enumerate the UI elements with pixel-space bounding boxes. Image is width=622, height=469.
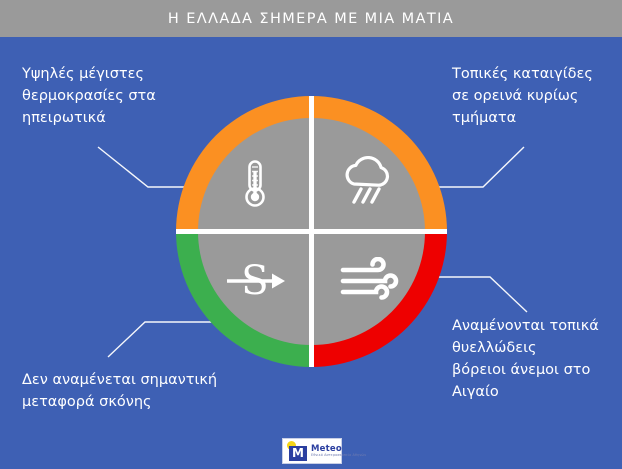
sand-transport-icon: S: [224, 256, 286, 306]
callout-top-right: Τοπικές καταιγίδες σε ορεινά κυρίως τμήμ…: [452, 63, 622, 129]
rain-cloud-icon: [339, 155, 399, 211]
header-bar: Η ΕΛΛΑΔΑ ΣΗΜΕΡΑ ΜΕ ΜΙΑ ΜΑΤΙΑ: [0, 0, 622, 37]
meteo-logo[interactable]: M Meteo Εθνικό Αστεροσκοπείο Αθηνών: [282, 438, 342, 464]
callout-bottom-left: Δεν αναμένεται σημαντική μεταφορά σκόνης: [22, 369, 242, 413]
dial-quadrant-dust[interactable]: S: [220, 246, 290, 316]
thermometer-icon: [227, 155, 283, 211]
page-title: Η ΕΛΛΑΔΑ ΣΗΜΕΡΑ ΜΕ ΜΙΑ ΜΑΤΙΑ: [168, 11, 454, 27]
callout-bottom-right: Αναμένονται τοπικά θυελλώδεις βόρειοι άν…: [452, 315, 622, 403]
callout-top-left: Υψηλές μέγιστες θερμοκρασίες στα ηπειρωτ…: [22, 63, 222, 129]
logo-subtitle: Εθνικό Αστεροσκοπείο Αθηνών: [311, 454, 366, 458]
logo-mark: M: [286, 441, 308, 461]
dial-divider-horizontal: [176, 229, 447, 234]
dial-quadrant-storms[interactable]: [334, 148, 404, 218]
logo-text: Meteo Εθνικό Αστεροσκοπείο Αθηνών: [311, 445, 366, 457]
dial-quadrant-temperature[interactable]: [220, 148, 290, 218]
infographic-canvas: S Υψηλές μέγιστες θερμοκρασίες στα ηπειρ…: [0, 37, 622, 469]
dial-quadrant-wind[interactable]: [334, 246, 404, 316]
weather-dial: S: [176, 96, 447, 367]
logo-letter: M: [289, 446, 307, 461]
wind-icon: [338, 257, 400, 305]
